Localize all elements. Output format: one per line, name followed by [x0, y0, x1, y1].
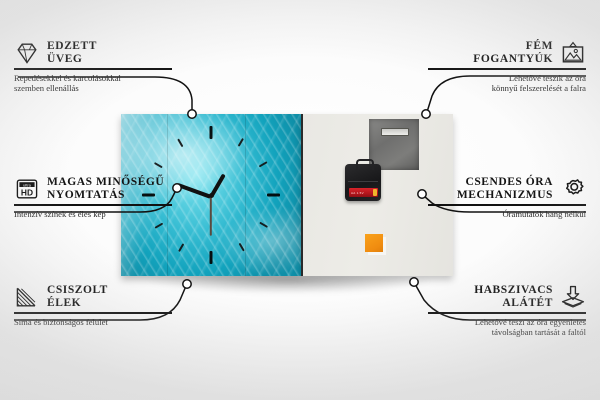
- dial-tick: [239, 243, 245, 252]
- callout-title: HABSZIVACS ALÁTÉT: [474, 284, 553, 309]
- callout-rule: [428, 312, 586, 314]
- svg-text:HD: HD: [21, 187, 33, 197]
- callout-title: FÉM FOGANTYÚK: [473, 40, 553, 65]
- callout-rule: [428, 68, 586, 70]
- callout-tempered-glass[interactable]: EDZETT ÜVEG Repedésekkel és karcolásokka…: [14, 40, 172, 93]
- callout-subtitle: Sima és biztonságos felület: [14, 317, 172, 327]
- dial-tick: [178, 243, 184, 252]
- hatched-edge-icon: [14, 285, 40, 309]
- gear-icon: [560, 177, 586, 201]
- callout-subtitle: Lehetővé teszik az óra könnyű felszerelé…: [428, 73, 586, 94]
- dial-tick: [210, 126, 213, 139]
- mechanism-loop: [356, 159, 374, 170]
- callout-foam-pad[interactable]: HABSZIVACS ALÁTÉT Lehetővé teszi az óra …: [428, 284, 586, 337]
- callout-header: CSENDES ÓRA MECHANIZMUS: [428, 176, 586, 201]
- callout-rule: [14, 204, 172, 206]
- mechanism-seam: [348, 181, 378, 182]
- dial-tick: [259, 222, 268, 228]
- callout-subtitle: Óramutatók hang nélkül: [428, 209, 586, 219]
- infographic-canvas: AA 1.5V: [0, 0, 600, 400]
- callout-header: ultra HD MAGAS MINŐSÉGŰ NYOMTATÁS: [14, 176, 172, 201]
- callout-polished-edges[interactable]: CSISZOLT ÉLEK Sima és biztonságos felüle…: [14, 284, 172, 327]
- battery-label: AA 1.5V: [351, 191, 364, 195]
- callout-header: FÉM FOGANTYÚK: [428, 40, 586, 65]
- ultra-hd-icon: ultra HD: [14, 177, 40, 201]
- hanger-slot: [381, 128, 409, 136]
- callout-rule: [14, 68, 172, 70]
- callout-header: CSISZOLT ÉLEK: [14, 284, 172, 309]
- callout-subtitle: Intenzív színek és éles kép: [14, 209, 172, 219]
- dial-tick: [238, 138, 244, 147]
- dial-tick: [154, 162, 163, 168]
- dial-tick: [177, 138, 183, 147]
- battery-terminal: [373, 189, 377, 196]
- callout-header: HABSZIVACS ALÁTÉT: [428, 284, 586, 309]
- dial-tick: [259, 161, 268, 167]
- callout-title: CSISZOLT ÉLEK: [47, 284, 108, 309]
- metal-hanger-plate: [369, 119, 419, 170]
- dial-tick: [210, 251, 213, 264]
- callout-title: MAGAS MINŐSÉGŰ NYOMTATÁS: [47, 176, 164, 201]
- callout-rule: [14, 312, 172, 314]
- callout-subtitle: Lehetővé teszi az óra egyenletes távolsá…: [428, 317, 586, 338]
- center-cap: [209, 193, 214, 198]
- callout-hd-print[interactable]: ultra HD MAGAS MINŐSÉGŰ NYOMTATÁS Intenz…: [14, 176, 172, 219]
- callout-title: EDZETT ÜVEG: [47, 40, 97, 65]
- diamond-icon: [14, 41, 40, 65]
- svg-text:ultra: ultra: [23, 182, 32, 187]
- foam-pad-sample: [365, 234, 383, 252]
- dial-tick: [267, 194, 280, 197]
- callout-header: EDZETT ÜVEG: [14, 40, 172, 65]
- dial-tick: [154, 223, 163, 229]
- picture-hanger-icon: [560, 41, 586, 65]
- callout-metal-handles[interactable]: FÉM FOGANTYÚK Lehetővé teszik az óra kön…: [428, 40, 586, 93]
- battery: AA 1.5V: [349, 188, 378, 197]
- second-hand: [210, 196, 212, 236]
- press-down-pad-icon: [560, 285, 586, 309]
- callout-title: CSENDES ÓRA MECHANIZMUS: [457, 176, 553, 201]
- clock-mechanism: AA 1.5V: [345, 164, 381, 201]
- callout-subtitle: Repedésekkel és karcolásokkal szemben el…: [14, 73, 172, 94]
- callout-silent-movement[interactable]: CSENDES ÓRA MECHANIZMUS Óramutatók hang …: [428, 176, 586, 219]
- callout-rule: [428, 204, 586, 206]
- minute-hand: [176, 183, 211, 199]
